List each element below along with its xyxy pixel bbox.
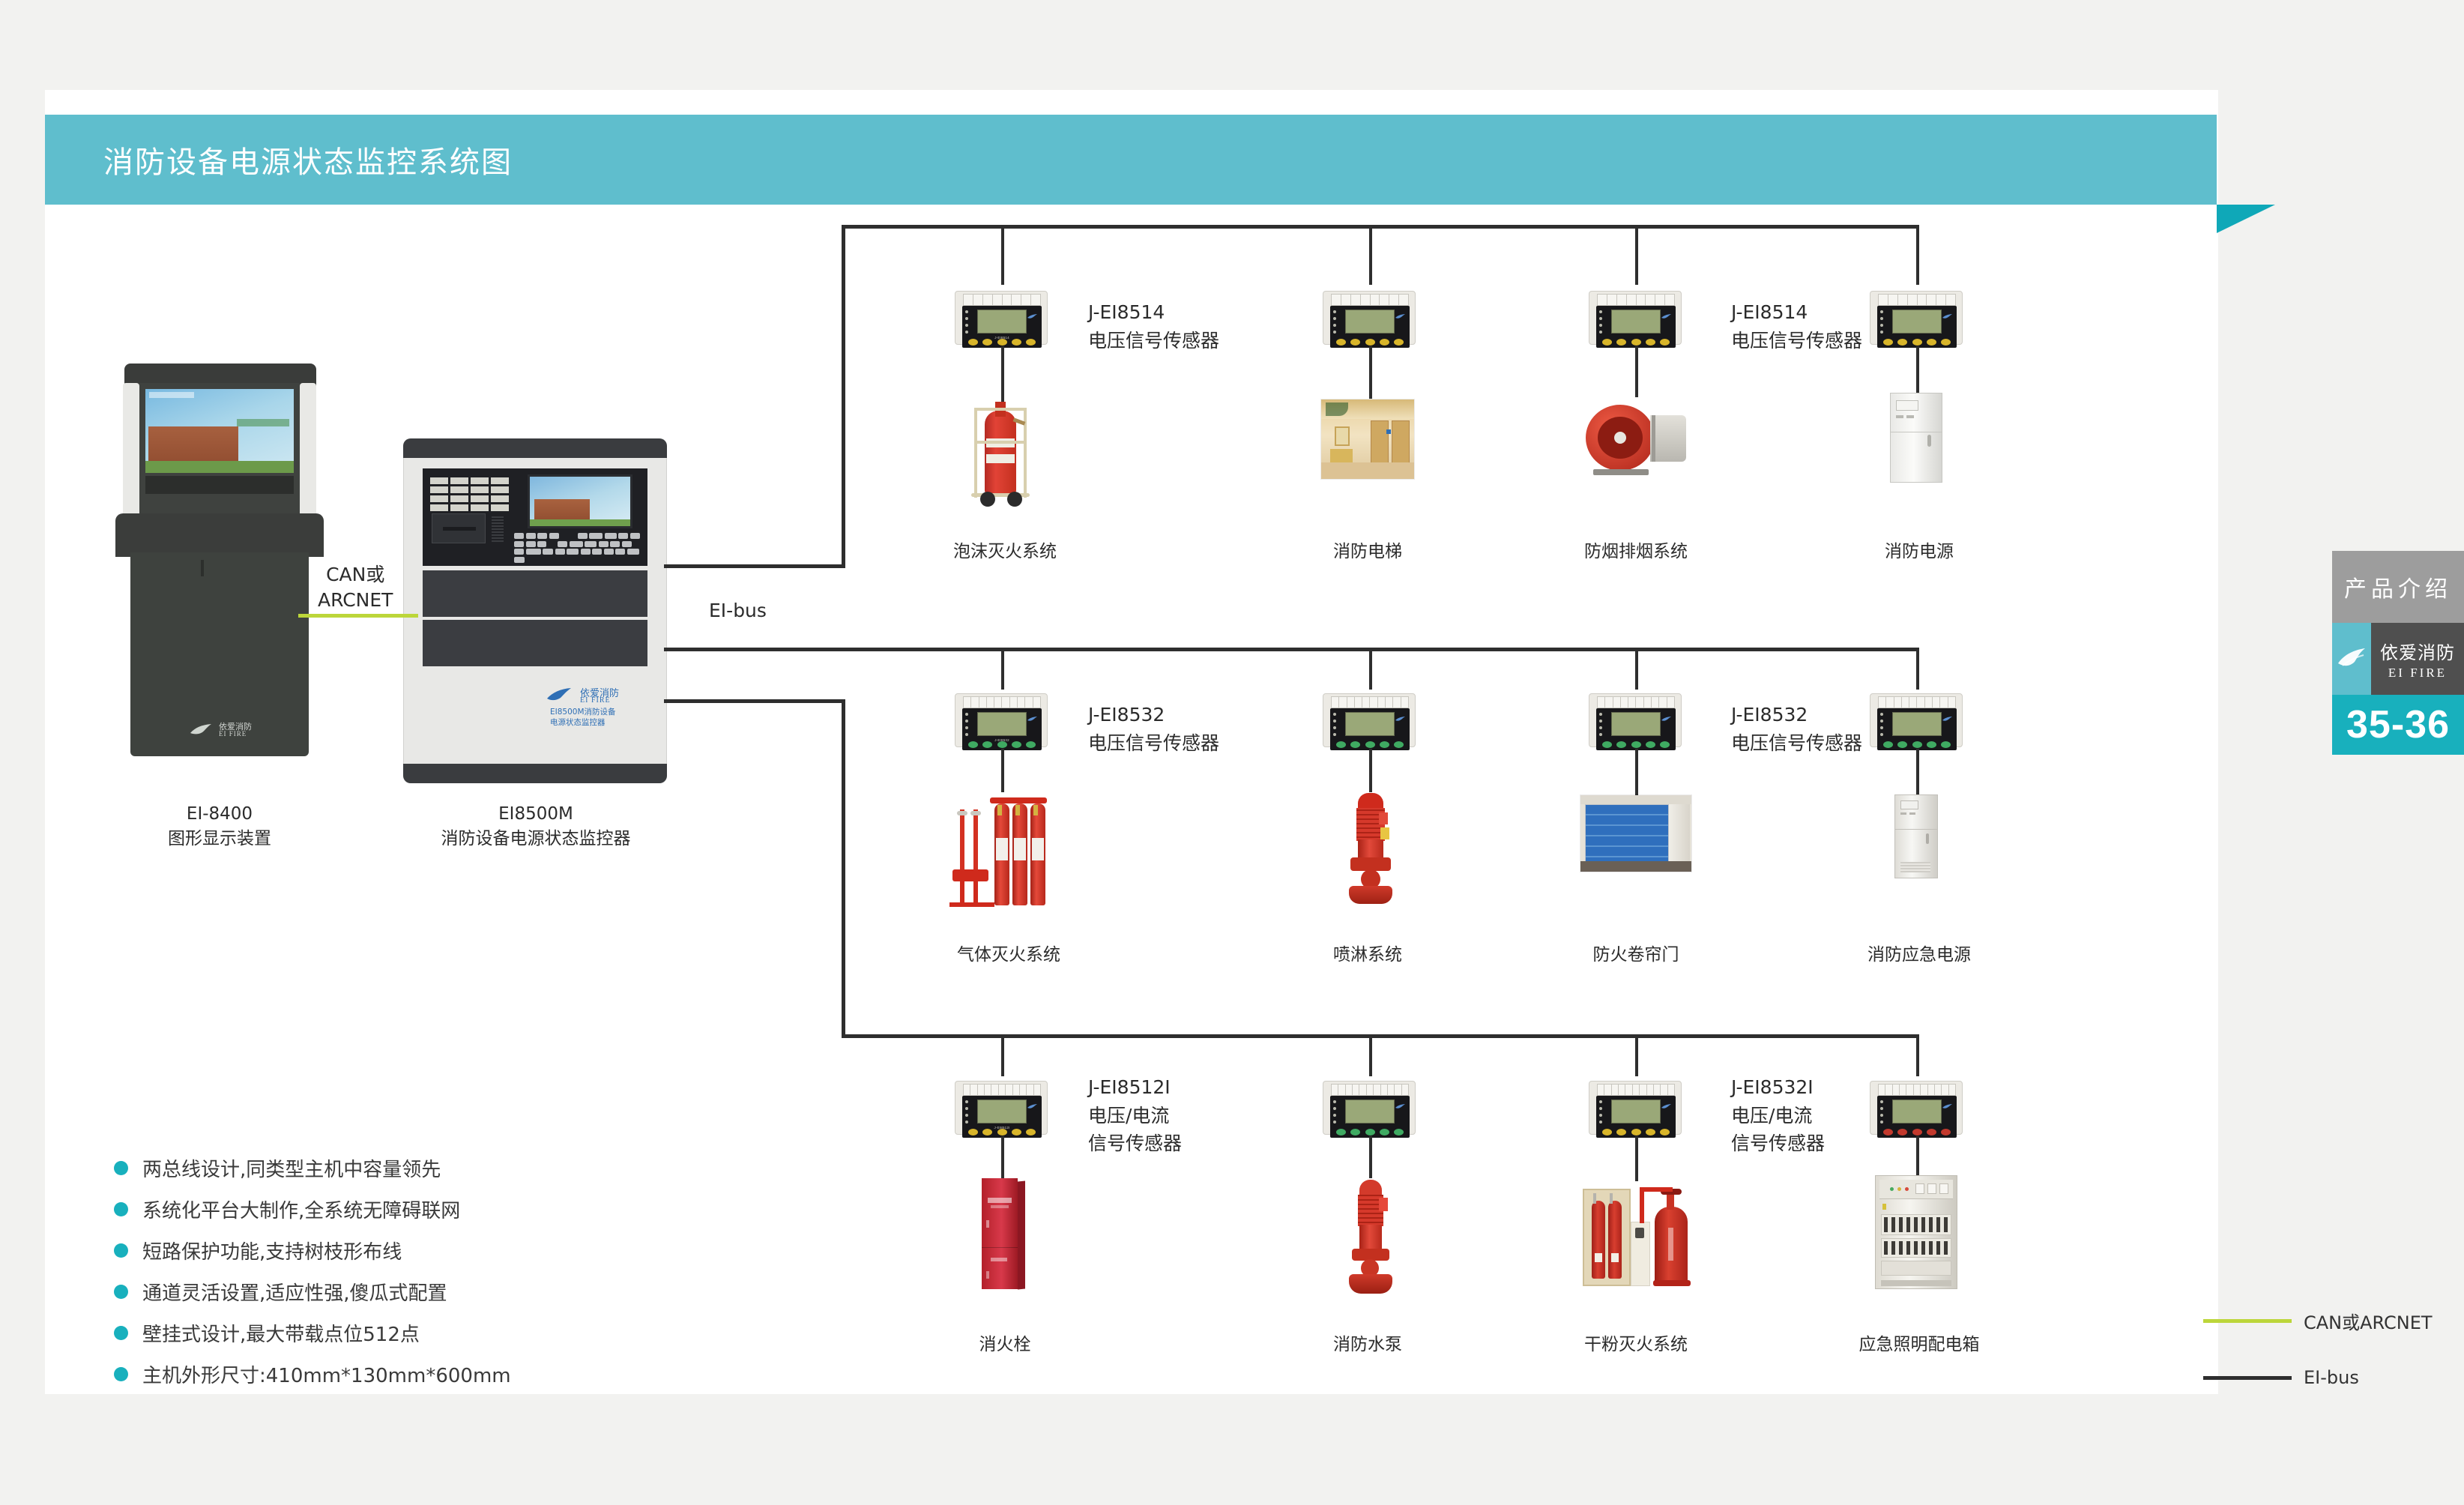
feature-text: 两总线设计,同类型主机中容量领先	[142, 1154, 441, 1182]
drop-row1-4	[1916, 225, 1919, 285]
legend-swatch-can-icon	[2203, 1319, 2292, 1323]
device-fire-water-pump	[1341, 1178, 1398, 1295]
device-label-row3-3: 干粉灭火系统	[1565, 1333, 1707, 1357]
module-logo-icon	[1027, 310, 1039, 316]
legend-swatch-eibus-icon	[2203, 1376, 2292, 1380]
bus-seg-row3-h	[664, 699, 845, 703]
bullet-dot-icon	[114, 1161, 128, 1175]
device-fire-power-cabinet	[1890, 393, 1942, 483]
module-model-row3-left: J-EI8512I	[1088, 1073, 1182, 1102]
legend-label-eibus: EI-bus	[2304, 1367, 2359, 1388]
side-tab-section-label: 产品介绍	[2344, 570, 2452, 603]
drop-dev-row1-1	[1001, 346, 1004, 403]
can-label-line1: CAN或	[318, 562, 393, 588]
ei8500m-brand-en: EI FIRE	[580, 696, 611, 705]
drop-row2-3	[1635, 648, 1638, 690]
ei8400-model: EI-8400	[111, 802, 328, 827]
legend-label-can: CAN或ARCNET	[2304, 1308, 2433, 1334]
module-label-row3-left: J-EI8512I 电压/电流 信号传感器	[1088, 1073, 1182, 1158]
sensor-module-row1-1[interactable]: J-EI8514	[955, 283, 1048, 348]
ei8400-brand-en: EI FIRE	[219, 730, 247, 738]
bullet-dot-icon	[114, 1202, 128, 1216]
header-banner: 消防设备电源状态监控系统图	[45, 115, 2217, 205]
module-label-row3-right: J-EI8532I 电压/电流 信号传感器	[1731, 1073, 1825, 1158]
sensor-module-row3-1[interactable]: J-EI8512I	[955, 1073, 1048, 1138]
ei8500m-desc: 消防设备电源状态监控器	[390, 827, 682, 851]
module-desc2-row3-left: 信号传感器	[1088, 1129, 1182, 1158]
module-label-row2-left: J-EI8532 电压信号传感器	[1088, 701, 1219, 757]
sensor-module-row2-4[interactable]	[1870, 686, 1963, 750]
bus-seg-row1-h	[664, 564, 845, 568]
drop-row1-3	[1635, 225, 1638, 285]
slide-root: 消防设备电源状态监控系统图 产品介绍 依爱消防 EI FIRE 35-36	[0, 0, 2464, 1505]
brand-name-cn: 依爱消防	[2380, 638, 2455, 664]
feature-item: 两总线设计,同类型主机中容量领先	[114, 1154, 511, 1182]
device-label-row1-1: 泡沫灭火系统	[934, 540, 1076, 564]
device-label-row1-3: 防烟排烟系统	[1565, 540, 1707, 564]
module-desc-row1-left: 电压信号传感器	[1088, 327, 1219, 355]
can-arcnet-label: CAN或 ARCNET	[318, 562, 393, 613]
device-label-row2-1: 气体灭火系统	[934, 943, 1084, 968]
drop-row1-1	[1001, 225, 1004, 285]
bullet-dot-icon	[114, 1243, 128, 1258]
bus-seg-row1-v	[842, 225, 845, 566]
device-label-row2-4: 消防应急电源	[1841, 943, 1998, 968]
device-sprinkler-pump	[1341, 791, 1398, 908]
module-model-row2-right: J-EI8532	[1731, 701, 1862, 729]
bullet-dot-icon	[114, 1285, 128, 1299]
feature-list: 两总线设计,同类型主机中容量领先 系统化平台大制作,全系统无障碍联网 短路保护功…	[114, 1154, 511, 1402]
device-fire-elevator-photo	[1320, 399, 1415, 480]
drop-row3-2	[1369, 1034, 1372, 1076]
drop-row3-4	[1916, 1034, 1919, 1076]
drop-dev-row2-3	[1635, 749, 1638, 795]
eibus-label: EI-bus	[709, 600, 767, 621]
module-desc-row1-right: 电压信号传感器	[1731, 327, 1862, 355]
feature-text: 系统化平台大制作,全系统无障碍联网	[142, 1195, 460, 1223]
module-model-row3-right: J-EI8532I	[1731, 1073, 1825, 1102]
drop-dev-row2-2	[1369, 749, 1372, 792]
drop-dev-row3-2	[1369, 1136, 1372, 1178]
drop-dev-row1-2	[1369, 346, 1372, 399]
side-tab-brand-row: 依爱消防 EI FIRE	[2332, 623, 2464, 695]
sensor-module-row3-4[interactable]	[1870, 1073, 1963, 1138]
feature-item: 通道灵活设置,适应性强,傻瓜式配置	[114, 1278, 511, 1306]
sensor-module-row2-2[interactable]	[1323, 686, 1416, 750]
device-ei8500m: 依爱消防 EI FIRE EI8500M消防设备 电源状态监控器	[403, 438, 667, 783]
device-lighting-distribution-cabinet	[1875, 1175, 1957, 1289]
module-model-row2-left: J-EI8532	[1088, 701, 1219, 729]
bullet-dot-icon	[114, 1326, 128, 1340]
device-gas-extinguishing-system	[948, 791, 1053, 911]
sensor-module-row3-2[interactable]	[1323, 1073, 1416, 1138]
device-dry-powder-system	[1583, 1181, 1692, 1289]
device-foam-extinguisher	[964, 397, 1043, 526]
module-desc-row2-left: 电压信号传感器	[1088, 729, 1219, 758]
device-label-row1-4: 消防电源	[1848, 540, 1990, 564]
side-tab-brand: 依爱消防 EI FIRE	[2371, 623, 2464, 695]
legend-item-eibus: EI-bus	[2203, 1367, 2433, 1388]
sensor-module-row2-3[interactable]	[1589, 686, 1682, 750]
drop-row3-3	[1635, 1034, 1638, 1076]
device-fire-shutter-photo	[1580, 794, 1692, 872]
module-model-row1-left: J-EI8514	[1088, 298, 1219, 327]
ei8500m-model: EI8500M	[390, 802, 682, 827]
drop-dev-row1-4	[1916, 346, 1919, 393]
ei8400-desc: 图形显示装置	[111, 827, 328, 851]
feature-text: 短路保护功能,支持树枝形布线	[142, 1237, 402, 1264]
drop-row2-2	[1369, 648, 1372, 690]
device-smoke-exhaust-fan	[1581, 397, 1689, 480]
feature-item: 主机外形尺寸:410mm*130mm*600mm	[114, 1360, 511, 1388]
page-title: 消防设备电源状态监控系统图	[103, 138, 513, 181]
device-ei8400: 依爱消防 EI FIRE	[111, 364, 328, 783]
sensor-module-row1-4[interactable]	[1870, 283, 1963, 348]
device-label-row2-2: 喷淋系统	[1300, 943, 1435, 968]
drop-dev-row2-1	[1001, 749, 1004, 792]
side-tab-section: 产品介绍	[2332, 551, 2464, 623]
feature-text: 主机外形尺寸:410mm*130mm*600mm	[142, 1360, 511, 1388]
device-label-row2-3: 防火卷帘门	[1565, 943, 1707, 968]
legend-item-can: CAN或ARCNET	[2203, 1308, 2433, 1334]
device-label-row1-2: 消防电梯	[1300, 540, 1435, 564]
sensor-module-row1-3[interactable]	[1589, 283, 1682, 348]
brand-name-en: EI FIRE	[2388, 666, 2447, 681]
drop-dev-row3-4	[1916, 1136, 1919, 1175]
feature-item: 短路保护功能,支持树枝形布线	[114, 1237, 511, 1264]
drop-row1-2	[1369, 225, 1372, 285]
drop-dev-row3-1	[1001, 1136, 1004, 1178]
device-eps-cabinet	[1894, 794, 1938, 878]
module-label-row1-right: J-EI8514 电压信号传感器	[1731, 298, 1862, 355]
can-arcnet-link	[298, 614, 418, 618]
bus-trunk-row2	[664, 648, 1918, 651]
caption-ei8400: EI-8400 图形显示装置	[111, 802, 328, 852]
module-desc-row2-right: 电压信号传感器	[1731, 729, 1862, 758]
sensor-module-row2-1[interactable]: J-EI8532	[955, 686, 1048, 750]
drop-row2-1	[1001, 648, 1004, 690]
drop-dev-row3-3	[1635, 1136, 1638, 1181]
device-label-row3-4: 应急照明配电箱	[1833, 1333, 2005, 1357]
device-hydrant-box	[982, 1178, 1027, 1289]
feature-text: 通道灵活设置,适应性强,傻瓜式配置	[142, 1278, 447, 1306]
module-desc1-row3-right: 电压/电流	[1731, 1102, 1825, 1130]
module-desc2-row3-right: 信号传感器	[1731, 1129, 1825, 1158]
bullet-dot-icon	[114, 1367, 128, 1381]
feature-item: 系统化平台大制作,全系统无障碍联网	[114, 1195, 511, 1223]
ei8500m-panel-caption: EI8500M消防设备 电源状态监控器	[550, 707, 616, 728]
bus-seg-row3-v	[842, 699, 845, 1037]
drop-dev-row1-3	[1635, 346, 1638, 397]
device-label-row3-2: 消防水泵	[1300, 1333, 1435, 1357]
can-label-line2: ARCNET	[318, 588, 393, 613]
caption-ei8500m: EI8500M 消防设备电源状态监控器	[390, 802, 682, 852]
feature-item: 壁挂式设计,最大带载点位512点	[114, 1319, 511, 1347]
sensor-module-row1-2[interactable]	[1323, 283, 1416, 348]
page-range: 35-36	[2332, 695, 2464, 755]
sensor-module-row3-3[interactable]	[1589, 1073, 1682, 1138]
module-label-row2-right: J-EI8532 电压信号传感器	[1731, 701, 1862, 757]
drop-row2-4	[1916, 648, 1919, 690]
drop-dev-row2-4	[1916, 749, 1919, 795]
module-label-row1-left: J-EI8514 电压信号传感器	[1088, 298, 1219, 355]
module-model-row1-right: J-EI8514	[1731, 298, 1862, 327]
feature-text: 壁挂式设计,最大带载点位512点	[142, 1319, 420, 1347]
device-label-row3-1: 消火栓	[941, 1333, 1069, 1357]
banner-fold	[2217, 205, 2275, 233]
drop-row3-1	[1001, 1034, 1004, 1076]
legend: CAN或ARCNET EI-bus	[2203, 1308, 2433, 1421]
ei-fire-logo-icon	[2332, 623, 2371, 695]
module-desc1-row3-left: 电压/电流	[1088, 1102, 1182, 1130]
side-tab[interactable]: 产品介绍 依爱消防 EI FIRE 35-36	[2332, 551, 2464, 755]
